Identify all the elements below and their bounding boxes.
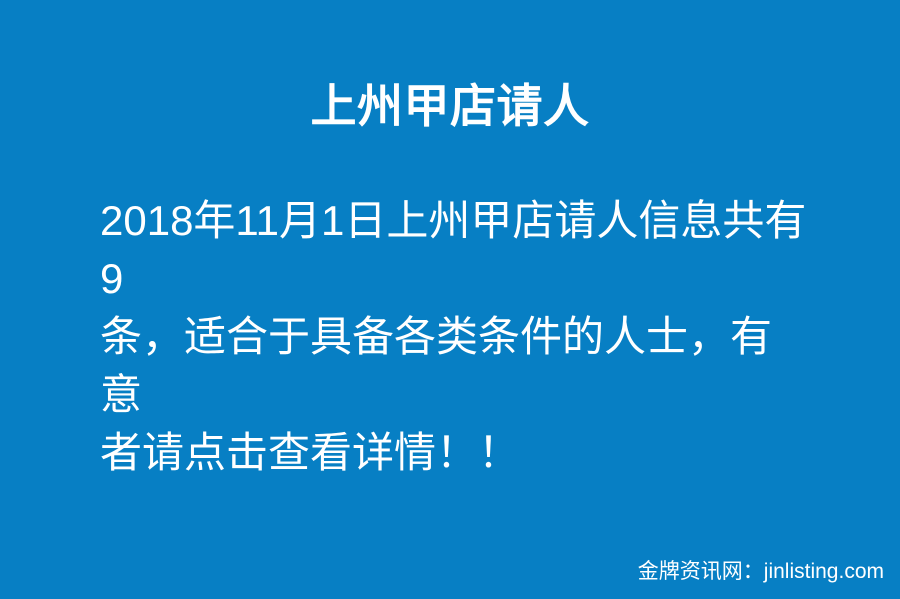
- body-line: 条，适合于具备各类条件的人士，有意: [100, 308, 812, 424]
- page-title: 上州甲店请人: [0, 78, 900, 134]
- watermark-site-name: 金牌资讯网：: [638, 560, 764, 583]
- body-line: 者请点击查看详情！！: [100, 424, 812, 482]
- watermark: 金牌资讯网：jinlisting.com: [0, 558, 884, 586]
- watermark-url: jinlisting.com: [764, 560, 884, 583]
- poster-canvas: 上州甲店请人 2018年11月1日上州甲店请人信息共有9 条，适合于具备各类条件…: [0, 0, 900, 599]
- poster-body-text: 2018年11月1日上州甲店请人信息共有9 条，适合于具备各类条件的人士，有意 …: [100, 192, 812, 482]
- body-line: 2018年11月1日上州甲店请人信息共有9: [100, 192, 812, 308]
